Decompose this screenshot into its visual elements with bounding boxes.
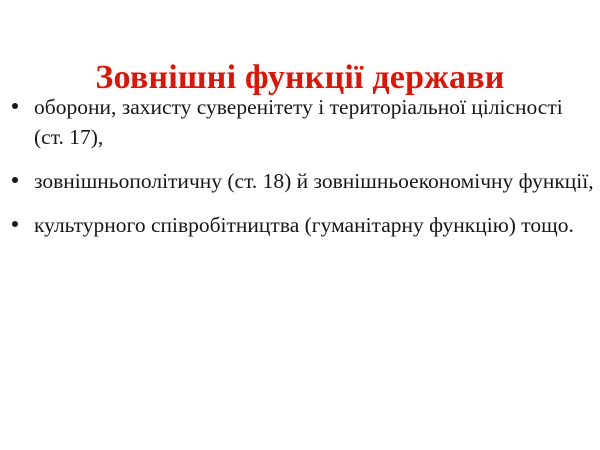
bullet-list: оборони, захисту суверенітету і територі… (8, 92, 594, 240)
list-item-text: культурного співробітництва (гуманітарну… (34, 210, 594, 240)
bullet-dot-icon (12, 103, 18, 109)
slide-canvas: Зовнішні функції держави оборони, захист… (0, 0, 600, 450)
list-item-text: зовнішньополітичну (ст. 18) й зовнішньое… (34, 166, 594, 196)
list-item-text: оборони, захисту суверенітету і територі… (34, 92, 594, 152)
list-item: зовнішньополітичну (ст. 18) й зовнішньое… (8, 166, 594, 196)
bullet-dot-icon (12, 177, 18, 183)
bullet-dot-icon (12, 221, 18, 227)
list-item: культурного співробітництва (гуманітарну… (8, 210, 594, 240)
list-item: оборони, захисту суверенітету і територі… (8, 92, 594, 152)
